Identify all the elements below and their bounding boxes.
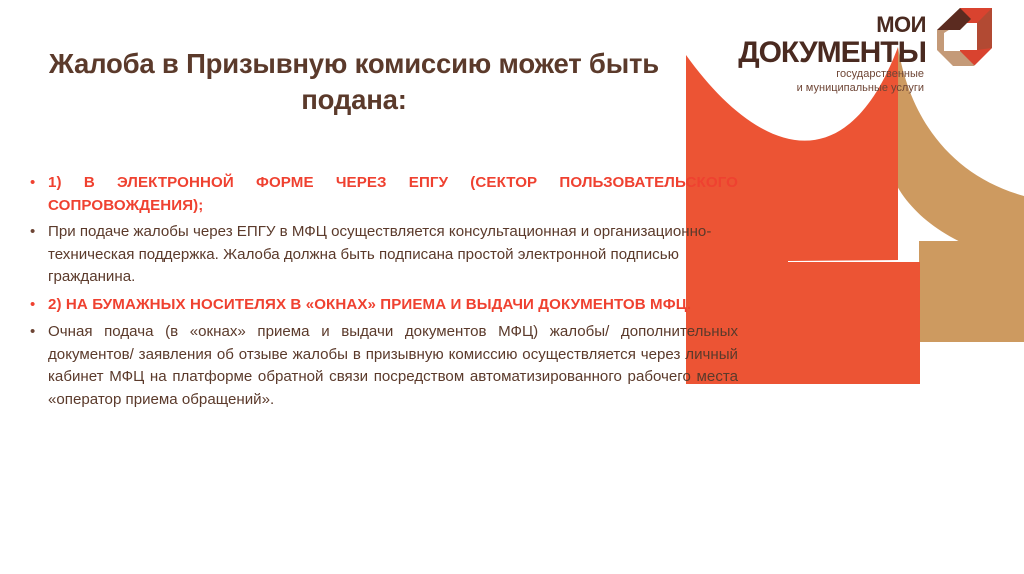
list-item-text: 2) На бумажных носителях в «окнах» прием… (48, 294, 738, 317)
logo-subtitle-line2: и муниципальные услуги (797, 82, 924, 94)
logo-subtitle-line1: государственные (836, 68, 924, 80)
tan-block-shape (919, 241, 1024, 342)
page-title: Жалоба в Призывную комиссию может быть п… (36, 46, 672, 119)
bullet-marker-icon: • (22, 321, 48, 344)
bullet-marker-icon: • (22, 221, 48, 244)
list-item-text: 1) В электронной форме через ЕПГУ (секто… (48, 172, 738, 217)
list-item: • 2) На бумажных носителях в «окнах» при… (22, 294, 738, 317)
list-item: • Очная подача (в «окнах» приема и выдач… (22, 321, 738, 411)
bullet-list: • 1) В электронной форме через ЕПГУ (сек… (22, 172, 738, 413)
bullet-marker-icon: • (22, 172, 48, 195)
list-item: • При подаче жалобы через ЕПГУ в МФЦ осу… (22, 221, 738, 289)
logo: МОИ ДОКУМЕНТЫ государственные и муниципа… (736, 6, 1006, 98)
slide-canvas: МОИ ДОКУМЕНТЫ государственные и муниципа… (0, 0, 1024, 574)
logo-line2: ДОКУМЕНТЫ (738, 36, 926, 69)
bullet-marker-icon: • (22, 294, 48, 317)
moi-dokumenty-shield-icon (937, 8, 992, 66)
logo-line1: МОИ (876, 12, 926, 37)
list-item-text: При подаче жалобы через ЕПГУ в МФЦ осуще… (48, 221, 738, 289)
list-item-text: Очная подача (в «окнах» приема и выдачи … (48, 321, 738, 411)
list-item: • 1) В электронной форме через ЕПГУ (сек… (22, 172, 738, 217)
